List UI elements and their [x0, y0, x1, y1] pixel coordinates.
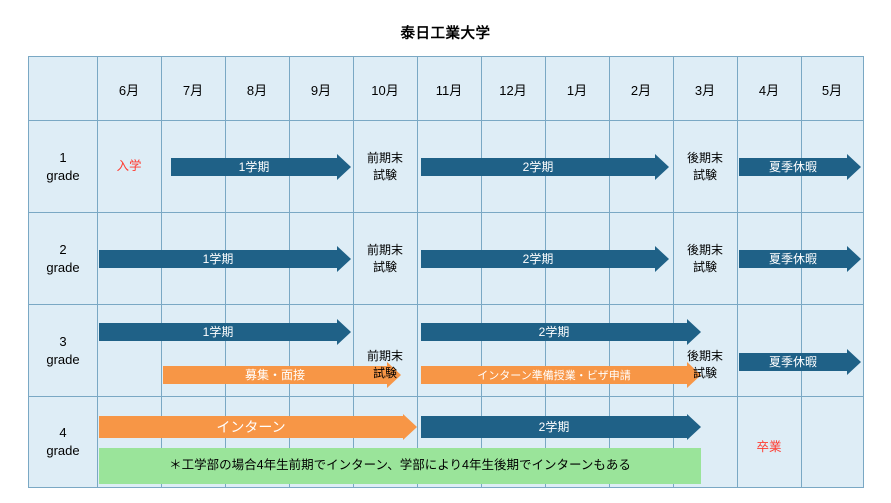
- arrow-head-icon: [687, 414, 701, 440]
- arrow-head-icon: [847, 246, 861, 272]
- grade-label-2: 2 grade: [29, 213, 97, 305]
- grade-number: 4: [59, 424, 66, 442]
- academic-calendar-chart: 6月 7月 8月 9月 10月 11月 12月 1月 2月 3月 4月 5月 1…: [28, 56, 864, 488]
- summer-break-arrow-grade1: 夏季休暇: [739, 154, 861, 180]
- arrow-label: 2学期: [523, 158, 554, 176]
- grade-label-3: 3 grade: [29, 305, 97, 397]
- exam-label: 前期末試験: [367, 242, 403, 277]
- arrow-label: 夏季休暇: [769, 250, 817, 268]
- arrow-label: 募集・面接: [245, 366, 305, 384]
- grade-number: 1: [59, 149, 66, 167]
- arrow-label: インターン: [216, 417, 285, 438]
- graduation-label: 卒業: [737, 437, 801, 459]
- grade-word: grade: [46, 259, 79, 277]
- final-exam-grade1: 後期末試験: [675, 141, 735, 193]
- grade-label-4: 4 grade: [29, 397, 97, 487]
- month-header-1: 1月: [545, 57, 609, 121]
- grade-word: grade: [46, 442, 79, 460]
- month-header-12: 12月: [481, 57, 545, 121]
- term2-arrow-grade4: 2学期: [421, 414, 701, 440]
- arrow-label: インターン準備授業・ビザ申請: [477, 367, 630, 384]
- month-header-7: 7月: [161, 57, 225, 121]
- month-header-2: 2月: [609, 57, 673, 121]
- term1-arrow-grade3: 1学期: [99, 319, 351, 345]
- grade-number: 2: [59, 241, 66, 259]
- engineering-internship-note: ＊工学部の場合4年生前期でインターン、学部により4年生後期でインターンもある: [99, 448, 701, 484]
- term2-arrow-grade1: 2学期: [421, 154, 669, 180]
- exam-label: 前期末試験: [367, 348, 403, 383]
- grade-label-1: 1 grade: [29, 121, 97, 213]
- internship-arrow-grade4: インターン: [99, 414, 419, 440]
- month-header-9: 9月: [289, 57, 353, 121]
- summer-break-arrow-grade2: 夏季休暇: [739, 246, 861, 272]
- exam-label: 後期末試験: [687, 348, 723, 383]
- arrow-label: 2学期: [523, 250, 554, 268]
- month-header-8: 8月: [225, 57, 289, 121]
- month-header-3: 3月: [673, 57, 737, 121]
- exam-label: 後期末試験: [687, 242, 723, 277]
- arrow-label: 1学期: [203, 250, 234, 268]
- arrow-label: 2学期: [539, 418, 570, 436]
- arrow-head-icon: [655, 154, 669, 180]
- entrance-label: 入学: [97, 154, 161, 180]
- grid-line-v: [737, 57, 738, 487]
- arrow-head-icon: [337, 319, 351, 345]
- month-header-4: 4月: [737, 57, 801, 121]
- term2-arrow-grade3: 2学期: [421, 319, 701, 345]
- month-header-6: 6月: [97, 57, 161, 121]
- arrow-label: 夏季休暇: [769, 353, 817, 371]
- arrow-head-icon: [847, 349, 861, 375]
- grade-number: 3: [59, 333, 66, 351]
- grade-word: grade: [46, 167, 79, 185]
- term2-arrow-grade2: 2学期: [421, 246, 669, 272]
- page-title: 泰日工業大学: [0, 22, 891, 43]
- month-header-10: 10月: [353, 57, 417, 121]
- arrow-head-icon: [337, 154, 351, 180]
- arrow-head-icon: [655, 246, 669, 272]
- grade-word: grade: [46, 351, 79, 369]
- term1-arrow-grade2: 1学期: [99, 246, 351, 272]
- arrow-label: 1学期: [203, 323, 234, 341]
- midterm-exam-grade1: 前期末試験: [355, 141, 415, 193]
- internship-prep-visa-arrow-grade3: インターン準備授業・ビザ申請: [421, 362, 701, 388]
- arrow-head-icon: [337, 246, 351, 272]
- exam-label: 後期末試験: [687, 150, 723, 185]
- final-exam-grade3: 後期末試験: [675, 339, 735, 391]
- arrow-label: 1学期: [239, 158, 270, 176]
- month-header-11: 11月: [417, 57, 481, 121]
- summer-break-arrow-grade3: 夏季休暇: [739, 349, 861, 375]
- midterm-exam-grade2: 前期末試験: [355, 233, 415, 285]
- grid-line-v: [97, 57, 98, 487]
- arrow-head-icon: [847, 154, 861, 180]
- midterm-exam-grade3: 前期末試験: [355, 339, 415, 391]
- grid-line-v: [801, 57, 802, 487]
- arrow-label: 2学期: [539, 323, 570, 341]
- arrow-label: 夏季休暇: [769, 158, 817, 176]
- exam-label: 前期末試験: [367, 150, 403, 185]
- arrow-head-icon: [403, 414, 417, 440]
- term1-arrow-grade1: 1学期: [171, 154, 351, 180]
- final-exam-grade2: 後期末試験: [675, 233, 735, 285]
- month-header-5: 5月: [801, 57, 863, 121]
